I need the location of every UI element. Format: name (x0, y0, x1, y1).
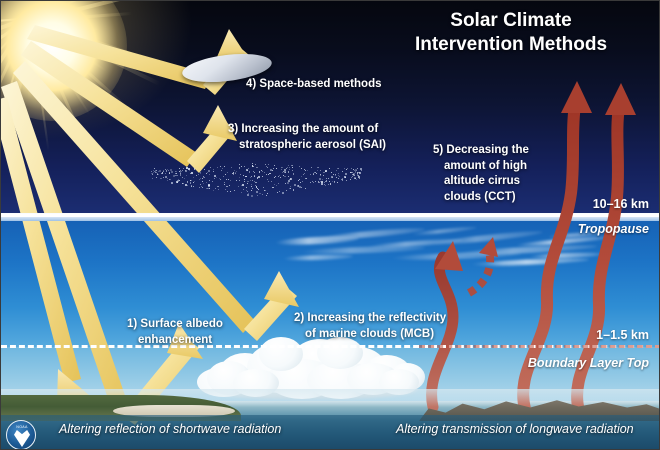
method-1-line-2: enhancement (127, 333, 223, 349)
method-1-line-1: 1) Surface albedo (127, 318, 223, 330)
title-line-1: Solar Climate (381, 9, 641, 33)
method-label-space-based-methods: 4) Space-based methods (246, 77, 381, 93)
title-line-2: Intervention Methods (381, 33, 641, 57)
noaa-logo-text: NOAA (7, 425, 36, 429)
method-5-line-4: clouds (CCT) (433, 190, 529, 206)
method-label-cirrus-cloud-thinning: 5) Decreasing the amount of high altitud… (433, 143, 529, 205)
cloud-puff (259, 337, 303, 371)
method-3-line-2: stratospheric aerosol (SAI) (228, 138, 386, 154)
method-label-marine-cloud-brightening: 2) Increasing the reflectivity of marine… (294, 311, 446, 342)
caption-shortwave: Altering reflection of shortwave radiati… (59, 422, 281, 436)
method-3-line-1: 3) Increasing the amount of (228, 123, 378, 135)
method-label-surface-albedo-enhancement: 1) Surface albedo enhancement (127, 317, 223, 348)
boundary-layer-altitude-label: 1–1.5 km (596, 328, 649, 342)
longwave-arrow-2-blocked (469, 237, 498, 293)
noaa-logo: NOAA (6, 420, 36, 450)
method-4-line-1: 4) Space-based methods (246, 78, 381, 90)
page-title: Solar Climate Intervention Methods (381, 9, 641, 58)
boundary-layer-name-label: Boundary Layer Top (528, 356, 649, 370)
tropopause-altitude-label: 10–16 km (593, 197, 649, 211)
solar-climate-intervention-infographic: Solar Climate Intervention Methods 4) Sp… (0, 0, 660, 450)
method-2-line-1: 2) Increasing the reflectivity (294, 312, 446, 324)
method-5-line-2: amount of high (433, 159, 529, 175)
noaa-bird-icon (14, 430, 30, 447)
boundary-layer-top-line-red (419, 345, 660, 348)
caption-longwave: Altering transmission of longwave radiat… (396, 422, 634, 436)
method-5-line-1: 5) Decreasing the (433, 144, 529, 156)
tropopause-name-label: Tropopause (578, 222, 649, 236)
method-2-line-2: of marine clouds (MCB) (294, 327, 446, 343)
method-label-stratospheric-aerosol-injection: 3) Increasing the amount of stratospheri… (228, 122, 386, 153)
method-5-line-3: altitude cirrus (433, 174, 529, 190)
